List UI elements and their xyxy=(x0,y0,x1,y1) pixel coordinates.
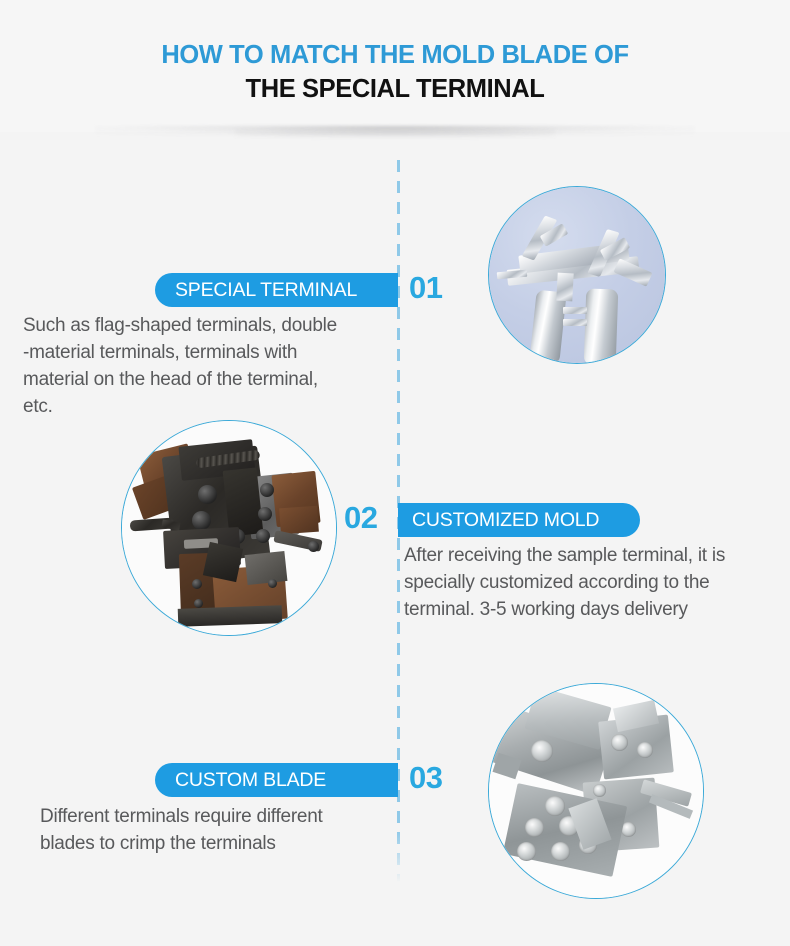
section-body-03: Different terminals require different bl… xyxy=(40,803,398,857)
section-body-01: Such as flag-shaped terminals, double -m… xyxy=(23,312,398,420)
custom-blade-photo xyxy=(488,683,704,899)
page-title-line-2: THE SPECIAL TERMINAL xyxy=(0,74,790,104)
badge-label-03: CUSTOM BLADE xyxy=(175,769,326,792)
badge-customized-mold[interactable]: CUSTOMIZED MOLD xyxy=(398,503,640,537)
page-title-line-1: HOW TO MATCH THE MOLD BLADE OF xyxy=(0,40,790,70)
customized-crimping-mold-photo xyxy=(121,420,337,636)
section-number-03: 03 xyxy=(409,761,442,795)
section-number-01: 01 xyxy=(409,271,442,305)
header-divider-shadow-inner xyxy=(235,130,555,137)
badge-label-01: SPECIAL TERMINAL xyxy=(175,279,357,302)
section-number-02: 02 xyxy=(344,501,377,535)
flag-shaped-terminal-photo xyxy=(488,186,666,364)
infographic-page: HOW TO MATCH THE MOLD BLADE OF THE SPECI… xyxy=(0,0,790,946)
badge-custom-blade[interactable]: CUSTOM BLADE xyxy=(155,763,398,797)
section-body-02: After receiving the sample terminal, it … xyxy=(404,542,784,623)
badge-special-terminal[interactable]: SPECIAL TERMINAL xyxy=(155,273,398,307)
page-header: HOW TO MATCH THE MOLD BLADE OF THE SPECI… xyxy=(0,0,790,132)
badge-label-02: CUSTOMIZED MOLD xyxy=(412,509,599,532)
